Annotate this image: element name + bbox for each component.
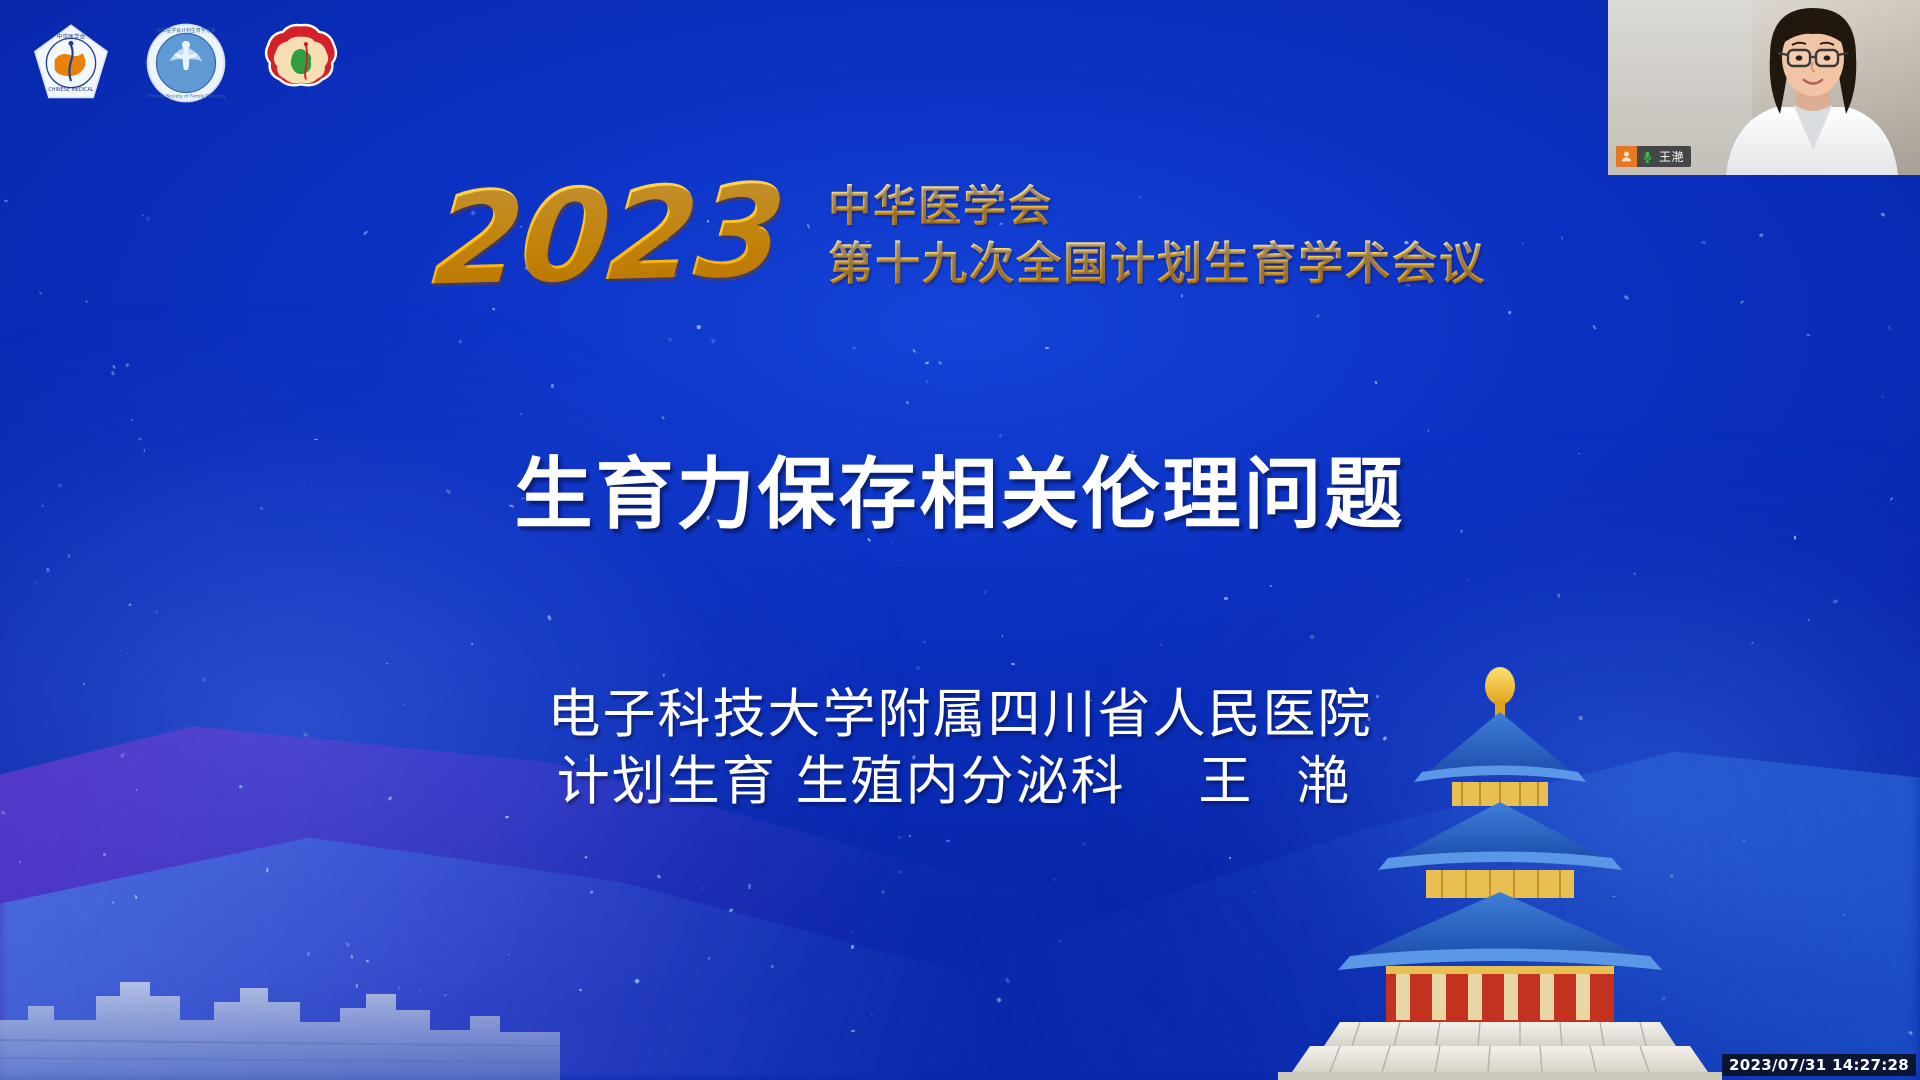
- svg-text:Chinese Society of Family Plan: Chinese Society of Family Planning: [147, 93, 226, 99]
- organization-name: 中华医学会: [828, 184, 1486, 231]
- svg-text:中华医学会计划生育学分会: 中华医学会计划生育学分会: [157, 27, 216, 34]
- chinese-medical-association-logo: 中华医学会 CHINESE MEDICAL: [30, 22, 112, 104]
- presentation-screen: 中华医学会 CHINESE MEDICAL 中华医学会计划生育学分会 Chine…: [0, 0, 1920, 1080]
- participant-name: 王滟: [1657, 148, 1691, 165]
- slide-header: 2023 中华医学会 第十九次全国计划生育学术会议: [0, 172, 1920, 300]
- presenter-institution: 电子科技大学附属四川省人民医院: [0, 682, 1920, 749]
- chinese-society-of-family-planning-logo: 中华医学会计划生育学分会 Chinese Society of Family P…: [145, 22, 227, 104]
- svg-text:中华医学会: 中华医学会: [57, 32, 86, 40]
- great-wall-illustration: [0, 870, 560, 1080]
- video-participant-tile[interactable]: 王滟: [1608, 0, 1920, 175]
- recording-timestamp: 2023/07/31 14:27:28: [1722, 1054, 1916, 1076]
- user-icon: [1616, 146, 1637, 167]
- conference-year: 2023: [428, 167, 787, 304]
- presenter-department: 计划生育 生殖内分泌科: [557, 751, 1126, 812]
- presenter-block: 电子科技大学附属四川省人民医院 计划生育 生殖内分泌科 王 滟: [0, 682, 1920, 816]
- conference-name: 第十九次全国计划生育学术会议: [828, 239, 1486, 289]
- sichuan-provincial-association-logo: [260, 22, 342, 104]
- video-participant-figure: [1708, 0, 1918, 175]
- presentation-title: 生育力保存相关伦理问题: [0, 432, 1920, 544]
- organization-logos: 中华医学会 CHINESE MEDICAL 中华医学会计划生育学分会 Chine…: [30, 22, 342, 104]
- microphone-icon[interactable]: [1637, 146, 1657, 167]
- svg-text:CHINESE MEDICAL: CHINESE MEDICAL: [48, 87, 93, 93]
- participant-name-badge: 王滟: [1616, 146, 1691, 167]
- presenter-department-line: 计划生育 生殖内分泌科 王 滟: [0, 749, 1920, 816]
- organization-titles: 中华医学会 第十九次全国计划生育学术会议: [828, 184, 1486, 289]
- presenter-name: 王 滟: [1198, 751, 1363, 812]
